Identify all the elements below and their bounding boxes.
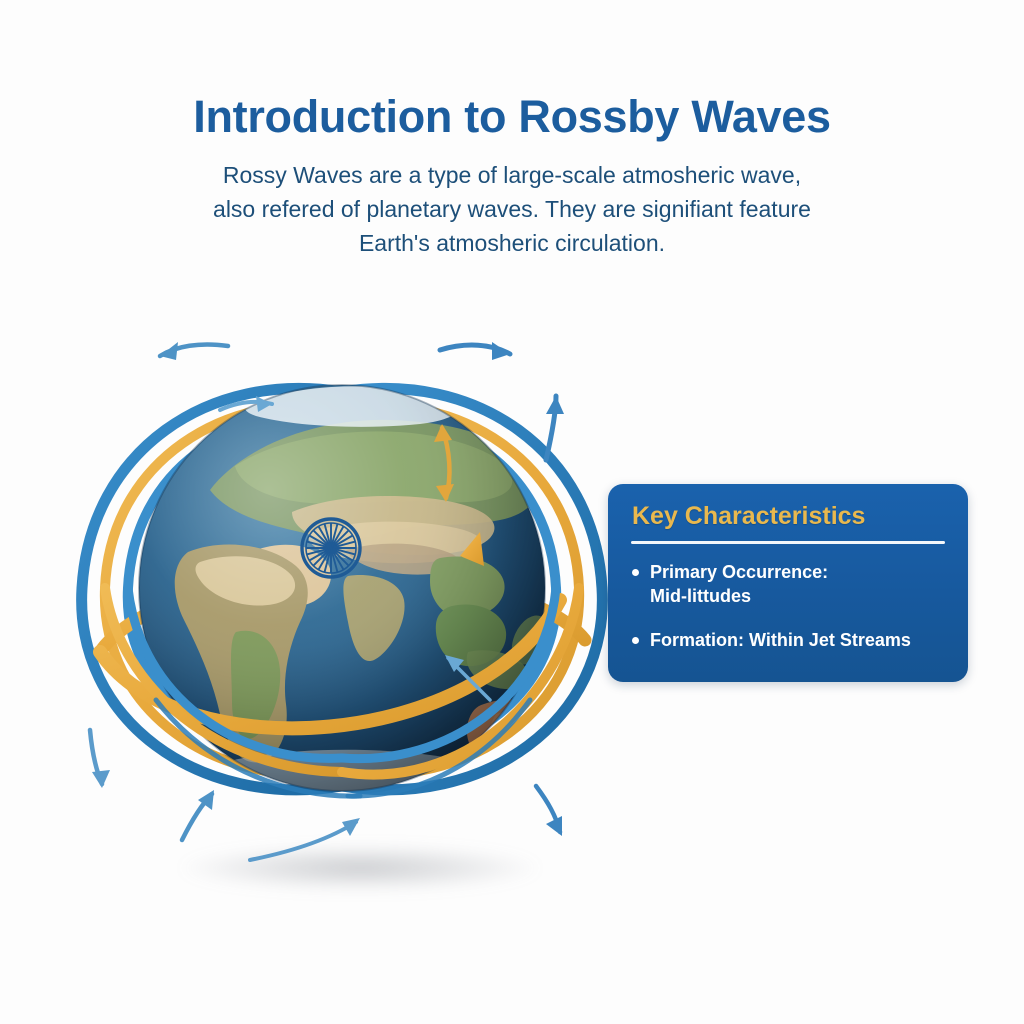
header: Introduction to Rossby Waves Rossy Waves… bbox=[0, 92, 1024, 260]
key-characteristics-list: Primary Occurrence: Mid-littudes Formati… bbox=[628, 560, 948, 653]
slide-canvas: Introduction to Rossby Waves Rossy Waves… bbox=[0, 0, 1024, 1024]
page-title: Introduction to Rossby Waves bbox=[0, 92, 1024, 142]
bullet-text-line2: Mid-littudes bbox=[650, 584, 948, 608]
page-subtitle: Rossy Waves are a type of large-scale at… bbox=[152, 158, 872, 260]
card-divider bbox=[631, 541, 945, 544]
key-characteristics-card: Key Characteristics Primary Occurrence: … bbox=[608, 484, 968, 682]
bullet-dot-icon bbox=[632, 637, 639, 644]
globe-illustration bbox=[60, 300, 640, 920]
bullet-dot-icon bbox=[632, 569, 639, 576]
arrow-top-left bbox=[160, 342, 228, 360]
card-title: Key Characteristics bbox=[632, 502, 948, 531]
list-item: Primary Occurrence: Mid-littudes bbox=[628, 560, 948, 609]
arrow-bottom-left bbox=[90, 730, 110, 788]
subtitle-line-1: Rossy Waves are a type of large-scale at… bbox=[152, 158, 872, 192]
ashoka-chakra-icon bbox=[302, 519, 360, 577]
arrow-bottom-center bbox=[250, 818, 360, 860]
list-item: Formation: Within Jet Streams bbox=[628, 628, 948, 652]
subtitle-line-3: Earth's atmosheric circulation. bbox=[152, 226, 872, 260]
bullet-text-line1: Formation: Within Jet Streams bbox=[650, 630, 911, 650]
arrow-mid-right bbox=[546, 396, 564, 460]
arrow-bottom-right bbox=[536, 786, 562, 836]
subtitle-line-2: also refered of planetary waves. They ar… bbox=[152, 192, 872, 226]
arrow-top-right bbox=[440, 342, 510, 360]
bullet-text-line1: Primary Occurrence: bbox=[650, 562, 828, 582]
rossby-wave-diagram bbox=[60, 300, 640, 920]
arrow-bottom-left-inner bbox=[182, 790, 214, 840]
